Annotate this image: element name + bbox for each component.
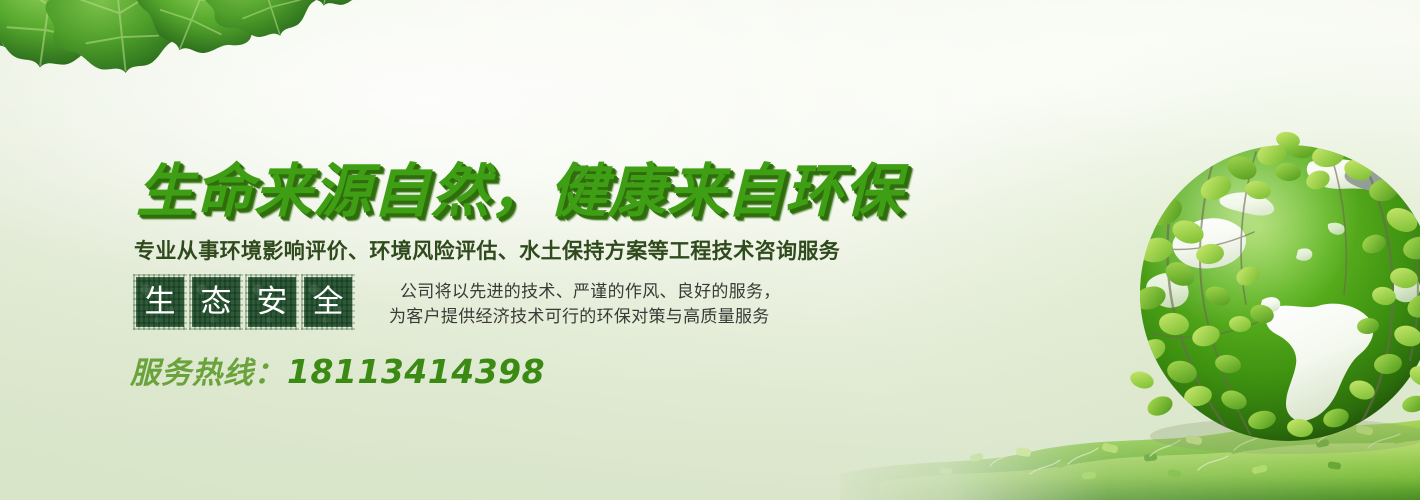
seal-stamp: 生 bbox=[136, 277, 184, 327]
seal-stamp: 安 bbox=[248, 277, 296, 327]
hotline-label: 服务热线： bbox=[130, 348, 285, 392]
banner-subtitle: 专业从事环境影响评价、环境风险评估、水土保持方案等工程技术咨询服务 bbox=[134, 239, 840, 264]
description-line-2: 为客户提供经济技术可行的环保对策与高质量服务 bbox=[389, 305, 781, 330]
eco-hero-banner: 生命来源自然，健康来自环保 专业从事环境影响评价、环境风险评估、水土保持方案等工… bbox=[0, 0, 1420, 500]
seal-stamp-char: 安 bbox=[257, 287, 288, 318]
seal-stamp-char: 全 bbox=[313, 287, 344, 318]
seal-stamp-char: 态 bbox=[201, 287, 232, 318]
banner-headline: 生命来源自然，健康来自环保 bbox=[136, 162, 903, 220]
seal-stamp: 态 bbox=[192, 277, 240, 327]
seal-stamp-char: 生 bbox=[145, 287, 176, 318]
seal-stamp-group: 生 态 安 全 bbox=[136, 277, 352, 327]
seal-stamp: 全 bbox=[304, 277, 352, 327]
banner-text-content: 生命来源自然，健康来自环保 专业从事环境影响评价、环境风险评估、水土保持方案等工… bbox=[0, 0, 860, 500]
hotline-number[interactable]: 18113414398 bbox=[287, 352, 545, 391]
company-description: 公司将以先进的技术、严谨的作风、良好的服务， 为客户提供经济技术可行的环保对策与… bbox=[389, 280, 781, 330]
service-hotline: 服务热线： 18113414398 bbox=[130, 348, 545, 392]
green-globe-illustration bbox=[1122, 128, 1420, 458]
description-line-1: 公司将以先进的技术、严谨的作风、良好的服务， bbox=[389, 280, 781, 305]
